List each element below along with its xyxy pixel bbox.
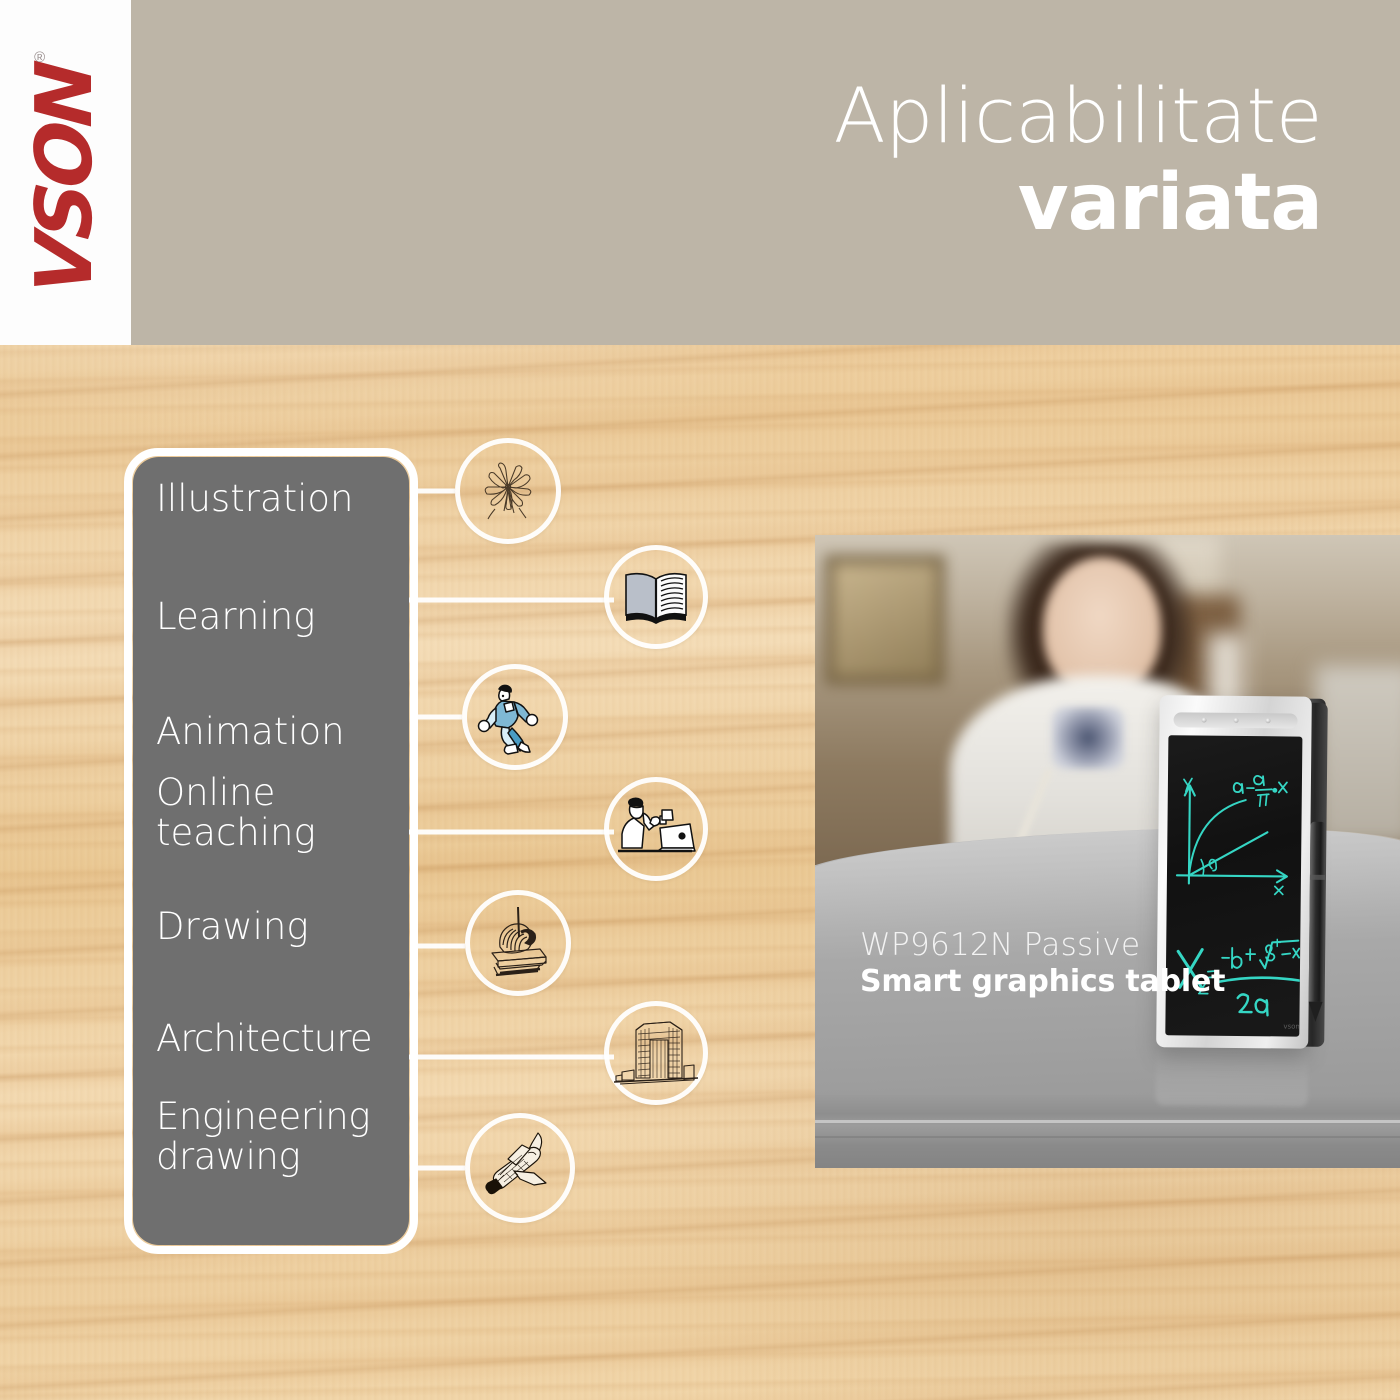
space-shuttle-icon	[478, 1129, 562, 1207]
tablet-indicator-2-icon[interactable]	[1233, 718, 1238, 723]
brand-logo-panel: VSON ®	[0, 0, 131, 345]
app-icon-circle-online-teaching[interactable]	[604, 777, 708, 881]
tablet-stylus-band	[1310, 875, 1325, 880]
tablet-top-bezel	[1174, 712, 1298, 728]
running-character-icon	[476, 678, 554, 756]
photo-floor	[815, 1095, 1400, 1168]
logo-wrapper: VSON ®	[0, 0, 131, 345]
tablet-indicator-3-icon[interactable]	[1265, 718, 1270, 723]
app-icon-circle-animation[interactable]	[462, 664, 568, 770]
photo-right-blur	[1315, 665, 1400, 845]
application-item-animation[interactable]: Animation	[133, 712, 345, 752]
tablet-reflection	[1156, 1045, 1309, 1107]
tablet-stylus[interactable]	[1309, 822, 1326, 1002]
product-model-label: WP9612N Passive	[860, 927, 1225, 964]
flower-sketch-icon	[470, 453, 546, 529]
photo-student-bowtie	[1052, 707, 1124, 769]
pottery-sketch-icon	[478, 903, 558, 983]
photo-floor-line-dark	[815, 1136, 1400, 1138]
applications-panel: Illustration Learning Animation Online t…	[133, 457, 409, 1245]
logo-rotated-group: VSON ®	[27, 51, 105, 293]
person-at-laptop-icon	[616, 796, 696, 862]
photo-floor-line-light	[815, 1120, 1400, 1123]
vson-logo-text: VSON	[27, 63, 105, 297]
registered-mark-icon: ®	[34, 49, 45, 64]
application-item-illustration[interactable]: Illustration	[133, 479, 353, 519]
application-item-architecture[interactable]: Architecture	[133, 1019, 372, 1059]
open-book-icon	[620, 567, 692, 627]
app-icon-circle-illustration[interactable]	[455, 438, 561, 544]
page-title-line-2: variata	[834, 164, 1322, 242]
photo-wall-frame	[825, 555, 945, 685]
svg-text:vson: vson	[1283, 1022, 1300, 1030]
application-item-engineering-drawing[interactable]: Engineering drawing	[133, 1097, 403, 1177]
tablet-indicator-1-icon[interactable]	[1201, 718, 1206, 723]
product-type-label: Smart graphics tablet	[860, 964, 1225, 999]
product-caption: WP9612N Passive Smart graphics tablet	[860, 927, 1225, 999]
cctv-building-icon	[614, 1016, 698, 1090]
app-icon-circle-engineering-drawing[interactable]	[465, 1113, 575, 1223]
application-item-learning[interactable]: Learning	[133, 597, 315, 637]
application-item-drawing[interactable]: Drawing	[133, 907, 309, 947]
application-item-online-teaching[interactable]: Online teaching	[133, 773, 393, 853]
app-icon-circle-architecture[interactable]	[604, 1001, 708, 1105]
page-title-line-1: Aplicabilitate	[834, 78, 1322, 154]
product-photo: vson WP9612N Passive Smart graphics tabl…	[815, 535, 1400, 1168]
app-icon-circle-drawing[interactable]	[465, 890, 571, 996]
app-icon-circle-learning[interactable]	[604, 545, 708, 649]
page-title: Aplicabilitate variata	[834, 78, 1322, 242]
